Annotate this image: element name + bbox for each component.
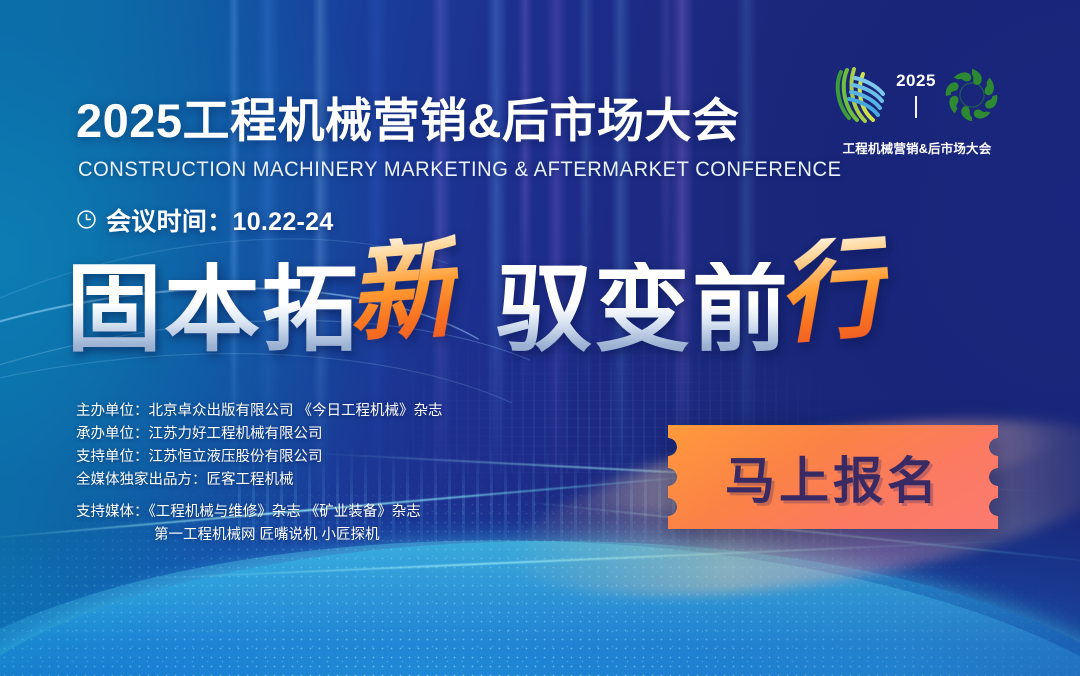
conference-date-text: 会议时间：10.22-24 (106, 202, 334, 238)
slogan-part2-accent: 行 (773, 234, 892, 348)
poster-content: 2025工程机械营销&后市场大会 CONSTRUCTION MACHINERY … (0, 0, 1080, 676)
register-now-label: 马上报名 (725, 441, 941, 513)
clock-icon (76, 209, 97, 230)
credit-line-supporter: 支持单位：江苏恒立液压股份有限公司 (76, 446, 443, 469)
logo-green-ring-icon (943, 66, 1001, 124)
credit-line-media-1: 支持媒体：《工程机械与维修》杂志 《矿业装备》杂志 (76, 501, 443, 524)
title-block: 2025工程机械营销&后市场大会 CONSTRUCTION MACHINERY … (76, 96, 895, 238)
conference-poster: 2025工程机械营销&后市场大会 CONSTRUCTION MACHINERY … (0, 0, 1080, 676)
credit-line-organizer: 主办单位：北京卓众出版有限公司 《今日工程机械》杂志 (76, 400, 443, 423)
logo-swoosh-icon (833, 64, 889, 126)
logo-year-text: 2025 (896, 72, 936, 89)
slogan: 固本拓 新 驭变前 行 (66, 252, 884, 358)
page-subtitle-english: CONSTRUCTION MACHINERY MARKETING & AFTER… (78, 157, 842, 182)
slogan-part1-white: 固本拓 (66, 262, 360, 358)
logo-conference-name: 工程机械营销&后市场大会 (832, 138, 1002, 157)
slogan-part2-white: 驭变前 (496, 262, 790, 358)
credit-line-co-organizer: 承办单位：江苏力好工程机械有限公司 (76, 423, 443, 446)
logo-marks: 2025 (832, 58, 1002, 132)
credit-line-exclusive-media: 全媒体独家出品方：匠客工程机械 (76, 469, 443, 492)
slogan-part1-accent: 新 (343, 234, 462, 348)
page-title: 2025工程机械营销&后市场大会 (76, 96, 895, 147)
credits-block: 主办单位：北京卓众出版有限公司 《今日工程机械》杂志 承办单位：江苏力好工程机械… (76, 400, 443, 547)
logo-year-block: 2025 (893, 64, 939, 126)
logo-divider (915, 96, 917, 118)
credit-line-media-2: 第一工程机械网 匠嘴说机 小匠探机 (76, 524, 443, 547)
ticket-shape[interactable]: 马上报名 (668, 425, 998, 529)
conference-logo: 2025 工程机械营销& (832, 58, 1002, 157)
register-now-button[interactable]: 马上报名 (668, 425, 998, 529)
